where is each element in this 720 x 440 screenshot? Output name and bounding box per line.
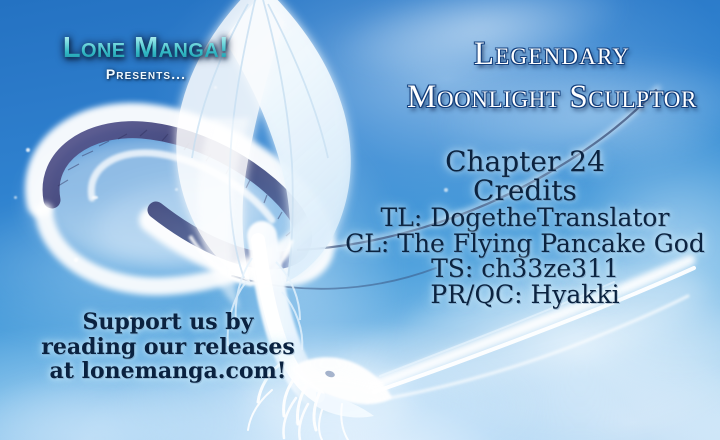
credits-list: Chapter 24 Credits TL: DogetheTranslator…: [330, 148, 720, 307]
light-mote: [74, 258, 78, 262]
support-message: Support us by reading our releases at lo…: [18, 310, 318, 384]
lone-manga-logo: Lone Manga! Presents...: [26, 34, 266, 82]
light-mote: [296, 420, 301, 425]
logo-title: Lone Manga!: [26, 34, 266, 63]
series-title: Legendary Moonlight Sculptor: [392, 36, 712, 116]
light-mote: [352, 396, 356, 400]
credit-proofreader: PR/QC: Hyakki: [330, 282, 720, 308]
logo-subtitle: Presents...: [26, 66, 266, 82]
light-mote: [14, 196, 17, 199]
credits-page: Lone Manga! Presents... Legendary Moonli…: [0, 0, 720, 440]
support-line-3: at lonemanga.com!: [18, 359, 318, 384]
credit-translator: TL: DogetheTranslator: [330, 205, 720, 231]
credit-cleaner: CL: The Flying Pancake God: [330, 231, 720, 257]
series-title-line-2: Moonlight Sculptor: [392, 79, 712, 116]
light-mote: [92, 196, 98, 199]
credit-heading: Credits: [330, 177, 720, 206]
credit-chapter: Chapter 24: [330, 148, 720, 177]
light-mote: [214, 86, 217, 89]
support-line-1: Support us by: [18, 310, 318, 335]
series-title-line-1: Legendary: [392, 36, 712, 73]
credit-typesetter: TS: ch33ze311: [330, 256, 720, 282]
support-line-2: reading our releases: [18, 335, 318, 360]
light-mote: [26, 148, 30, 152]
light-mote: [175, 188, 178, 191]
